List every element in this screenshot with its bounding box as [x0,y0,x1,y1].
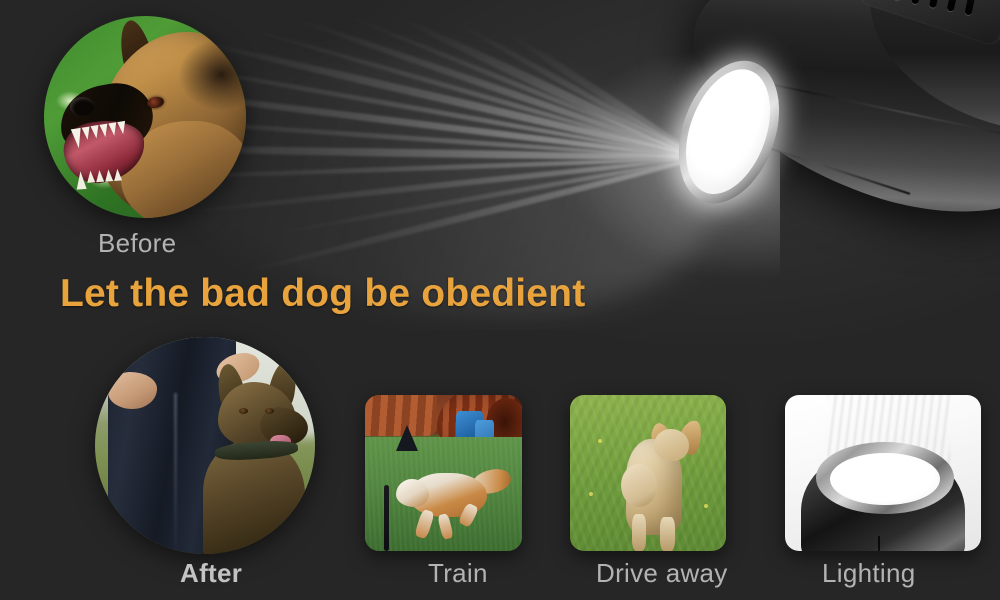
dog-head-rear [654,429,688,460]
training-cone [396,425,418,451]
collie-head [396,479,429,507]
handler-leg-seam [174,393,177,554]
before-label: Before [98,228,176,259]
ad-banner: Before Let the bad dog be obedient After [0,0,1000,600]
before-photo-circle [44,16,246,218]
after-label: After [180,558,242,589]
train-photo [365,395,522,551]
feature-thumb-train [365,395,522,551]
train-label: Train [428,558,488,589]
drive-away-photo [570,395,726,551]
drive-away-label: Drive away [596,558,728,589]
weave-pole [384,485,389,551]
after-photo-circle [95,337,315,554]
flashlight-product [655,0,1000,266]
handler-hand-left [108,372,156,409]
after-photo [95,337,315,554]
lens-glass-closeup [830,453,940,505]
flashlight-head-seam [878,536,880,551]
lens-glass [670,58,786,206]
headline: Let the bad dog be obedient [60,272,585,316]
trained-dog [196,367,315,554]
lighting-label: Lighting [822,558,915,589]
feature-thumb-drive-away [570,395,726,551]
lens-bezel-closeup [816,442,953,514]
before-photo [44,16,246,218]
feature-thumb-lighting [785,395,981,551]
lens-hotspot [693,88,770,188]
lighting-photo [785,395,981,551]
